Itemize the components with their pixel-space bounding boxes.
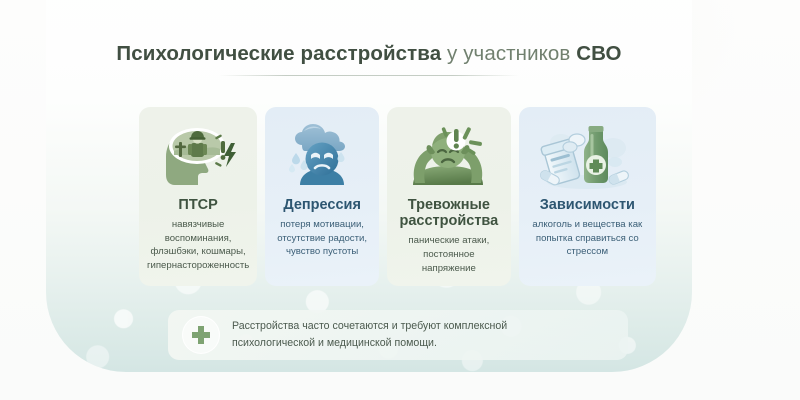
- card-title: Депрессия: [283, 197, 361, 213]
- card-title: Тревожные расстройства: [393, 197, 505, 229]
- head-clutch-exclamation-icon: [393, 115, 505, 195]
- card-title: Зависимости: [540, 197, 635, 213]
- disorder-card-row: ПТСР навязчивые воспоминания, флэшбэки, …: [139, 107, 656, 286]
- page-title: Психологические расстройства у участнико…: [46, 42, 692, 66]
- medical-cross-icon: [182, 316, 220, 354]
- card-anxiety[interactable]: Тревожные расстройства панические атаки,…: [387, 107, 511, 286]
- sad-face-raincloud-icon: [271, 115, 373, 195]
- card-addiction[interactable]: Зависимости алкоголь и вещества как попы…: [519, 107, 656, 286]
- infographic-stage: Психологические расстройства у участнико…: [0, 0, 800, 400]
- page-title-strong-2: СВО: [576, 42, 621, 65]
- card-ptsd[interactable]: ПТСР навязчивые воспоминания, флэшбэки, …: [139, 107, 257, 286]
- page-title-strong: Психологические расстройства: [116, 42, 441, 65]
- summary-note: Расстройства часто сочетаются и требуют …: [168, 310, 628, 360]
- card-description: навязчивые воспоминания, флэшбэки, кошма…: [145, 218, 251, 272]
- card-description: панические атаки, постоянное напряжение: [393, 234, 505, 275]
- head-soldier-flashback-icon: [145, 115, 251, 195]
- summary-note-line-1: Расстройства часто сочетаются и требуют …: [232, 318, 507, 335]
- card-description: потеря мотивации, отсутствие радости, чу…: [271, 218, 373, 259]
- card-description: алкоголь и вещества как попытка справить…: [525, 218, 650, 259]
- summary-note-line-2: психологической и медицинской помощи.: [232, 335, 507, 352]
- summary-note-text: Расстройства часто сочетаются и требуют …: [232, 318, 507, 352]
- card-depression[interactable]: Депрессия потеря мотивации, отсутствие р…: [265, 107, 379, 286]
- card-title: ПТСР: [178, 197, 217, 213]
- header: Психологические расстройства у участнико…: [46, 42, 692, 76]
- bottle-pills-icon: [525, 115, 650, 195]
- title-divider: [219, 75, 519, 76]
- page-title-light: у участников: [441, 42, 576, 65]
